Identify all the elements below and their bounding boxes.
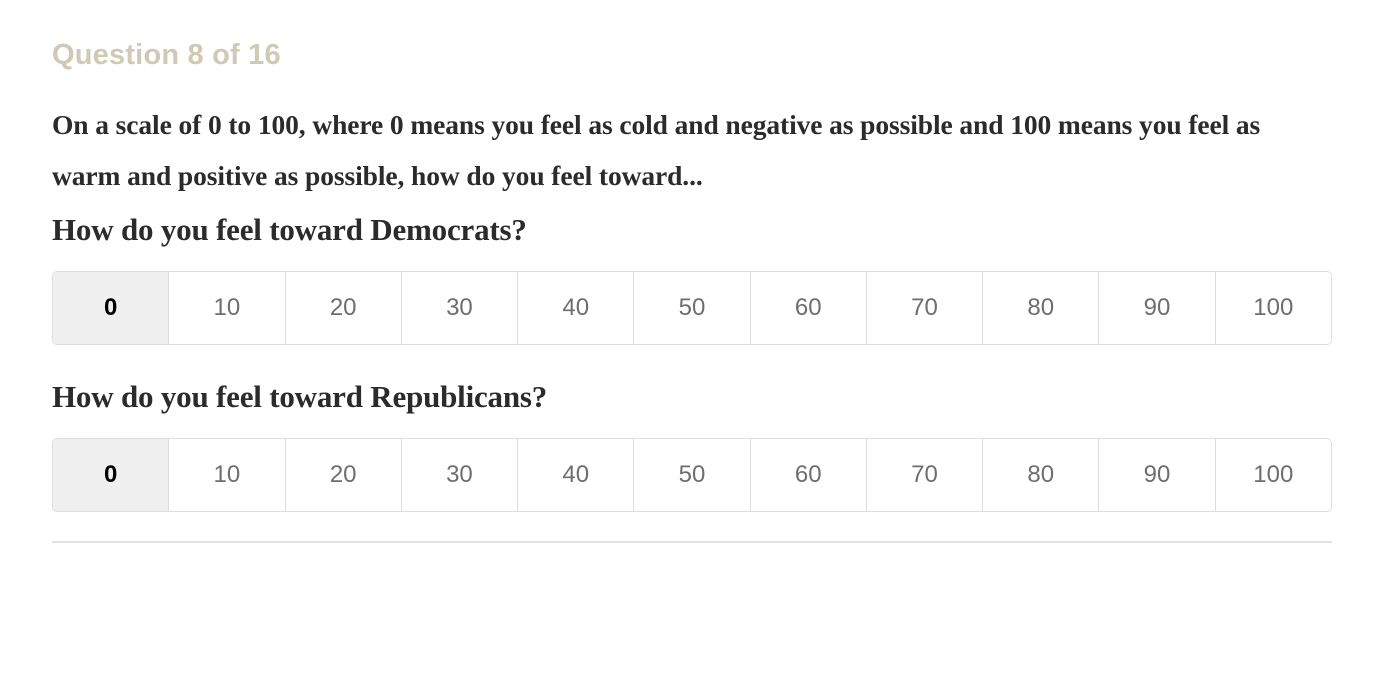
rating-scale-republicans-option-30[interactable]: 30 bbox=[402, 439, 518, 511]
survey-page: Question 8 of 16 On a scale of 0 to 100,… bbox=[0, 0, 1384, 674]
rating-scale-democrats[interactable]: 0102030405060708090100 bbox=[52, 271, 1332, 345]
rating-scale-democrats-option-0[interactable]: 0 bbox=[53, 272, 169, 344]
rating-scale-democrats-option-100[interactable]: 100 bbox=[1216, 272, 1331, 344]
rating-scale-democrats-option-60[interactable]: 60 bbox=[751, 272, 867, 344]
rating-scale-democrats-option-40[interactable]: 40 bbox=[518, 272, 634, 344]
rating-scale-republicans-option-90[interactable]: 90 bbox=[1099, 439, 1215, 511]
rating-scale-democrats-option-70[interactable]: 70 bbox=[867, 272, 983, 344]
rating-scale-democrats-option-30[interactable]: 30 bbox=[402, 272, 518, 344]
rating-scale-republicans[interactable]: 0102030405060708090100 bbox=[52, 438, 1332, 512]
rating-scale-democrats-option-50[interactable]: 50 bbox=[634, 272, 750, 344]
section-divider bbox=[52, 541, 1332, 543]
rating-scale-republicans-option-10[interactable]: 10 bbox=[169, 439, 285, 511]
question-progress-label: Question 8 of 16 bbox=[52, 0, 1332, 70]
sub-question-label-democrats: How do you feel toward Democrats? bbox=[52, 210, 1332, 250]
rating-scale-democrats-option-90[interactable]: 90 bbox=[1099, 272, 1215, 344]
rating-scale-democrats-option-20[interactable]: 20 bbox=[286, 272, 402, 344]
rating-scale-republicans-option-70[interactable]: 70 bbox=[867, 439, 983, 511]
rating-scale-republicans-option-20[interactable]: 20 bbox=[286, 439, 402, 511]
rating-scale-democrats-option-10[interactable]: 10 bbox=[169, 272, 285, 344]
rating-scale-republicans-option-50[interactable]: 50 bbox=[634, 439, 750, 511]
question-intro-text: On a scale of 0 to 100, where 0 means yo… bbox=[52, 70, 1332, 201]
rating-scale-democrats-option-80[interactable]: 80 bbox=[983, 272, 1099, 344]
rating-scale-republicans-option-80[interactable]: 80 bbox=[983, 439, 1099, 511]
rating-scale-republicans-option-0[interactable]: 0 bbox=[53, 439, 169, 511]
rating-scale-republicans-option-60[interactable]: 60 bbox=[751, 439, 867, 511]
rating-scale-republicans-option-100[interactable]: 100 bbox=[1216, 439, 1331, 511]
rating-scale-republicans-option-40[interactable]: 40 bbox=[518, 439, 634, 511]
sub-question-label-republicans: How do you feel toward Republicans? bbox=[52, 377, 1332, 417]
